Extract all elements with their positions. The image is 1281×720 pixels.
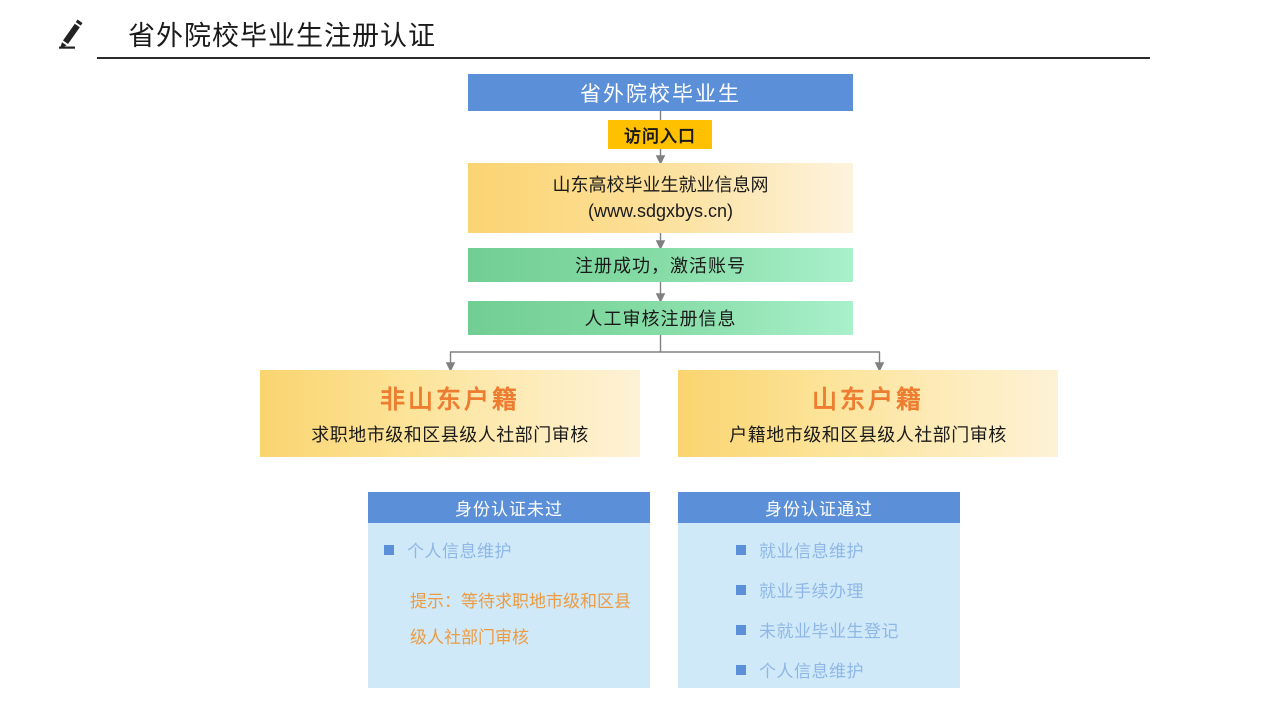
- node-manual-review[interactable]: 人工审核注册信息: [468, 301, 853, 335]
- branch-non-shandong-subtitle: 求职地市级和区县级人社部门审核: [311, 421, 589, 447]
- panel-passed-list: 就业信息维护 就业手续办理 未就业毕业生登记 个人信息维护: [678, 537, 960, 682]
- branch-shandong-title: 山东户籍: [812, 380, 924, 416]
- node-website-url: (www.sdgxbys.cn): [588, 198, 733, 224]
- list-item[interactable]: 个人信息维护: [678, 657, 960, 682]
- panel-failed-hint: 提示：等待求职地市级和区县级人社部门审核: [368, 584, 650, 656]
- node-website[interactable]: 山东高校毕业生就业信息网 (www.sdgxbys.cn): [468, 163, 853, 233]
- node-graduates[interactable]: 省外院校毕业生: [468, 74, 853, 111]
- list-item-label: 个人信息维护: [759, 657, 864, 682]
- node-website-name: 山东高校毕业生就业信息网: [553, 172, 769, 198]
- bullet-square-icon: [384, 545, 394, 555]
- panel-failed-header: 身份认证未过: [368, 492, 650, 523]
- bullet-square-icon: [736, 625, 746, 635]
- node-graduates-label: 省外院校毕业生: [580, 78, 741, 108]
- list-item[interactable]: 就业手续办理: [678, 577, 960, 602]
- branch-shandong-hukou[interactable]: 山东户籍 户籍地市级和区县级人社部门审核: [678, 370, 1058, 457]
- branch-non-shandong-title: 非山东户籍: [380, 380, 520, 416]
- list-item[interactable]: 个人信息维护: [368, 537, 650, 562]
- bullet-square-icon: [736, 585, 746, 595]
- list-item[interactable]: 未就业毕业生登记: [678, 617, 960, 642]
- panel-failed-list: 个人信息维护: [368, 537, 650, 562]
- node-activate-account[interactable]: 注册成功，激活账号: [468, 248, 853, 282]
- flowchart: 省外院校毕业生 访问入口 山东高校毕业生就业信息网 (www.sdgxbys.c…: [0, 0, 1281, 720]
- bullet-square-icon: [736, 665, 746, 675]
- panel-passed-body: 就业信息维护 就业手续办理 未就业毕业生登记 个人信息维护: [678, 523, 960, 682]
- panel-identity-verification-failed: 身份认证未过 个人信息维护 提示：等待求职地市级和区县级人社部门审核: [368, 492, 650, 688]
- node-access-entry-label: 访问入口: [624, 122, 696, 147]
- branch-shandong-subtitle: 户籍地市级和区县级人社部门审核: [729, 421, 1007, 447]
- list-item-label: 就业手续办理: [759, 577, 864, 602]
- panel-passed-header: 身份认证通过: [678, 492, 960, 523]
- panel-failed-body: 个人信息维护 提示：等待求职地市级和区县级人社部门审核: [368, 523, 650, 656]
- node-access-entry-badge[interactable]: 访问入口: [608, 120, 712, 149]
- panel-identity-verification-passed: 身份认证通过 就业信息维护 就业手续办理 未就业毕业生登记 个人信息维护: [678, 492, 960, 688]
- branch-non-shandong-hukou[interactable]: 非山东户籍 求职地市级和区县级人社部门审核: [260, 370, 640, 457]
- list-item-label: 个人信息维护: [407, 537, 512, 562]
- node-manual-review-label: 人工审核注册信息: [585, 305, 737, 331]
- bullet-square-icon: [736, 545, 746, 555]
- node-activate-account-label: 注册成功，激活账号: [575, 252, 746, 278]
- list-item-label: 就业信息维护: [759, 537, 864, 562]
- list-item-label: 未就业毕业生登记: [759, 617, 899, 642]
- list-item[interactable]: 就业信息维护: [678, 537, 960, 562]
